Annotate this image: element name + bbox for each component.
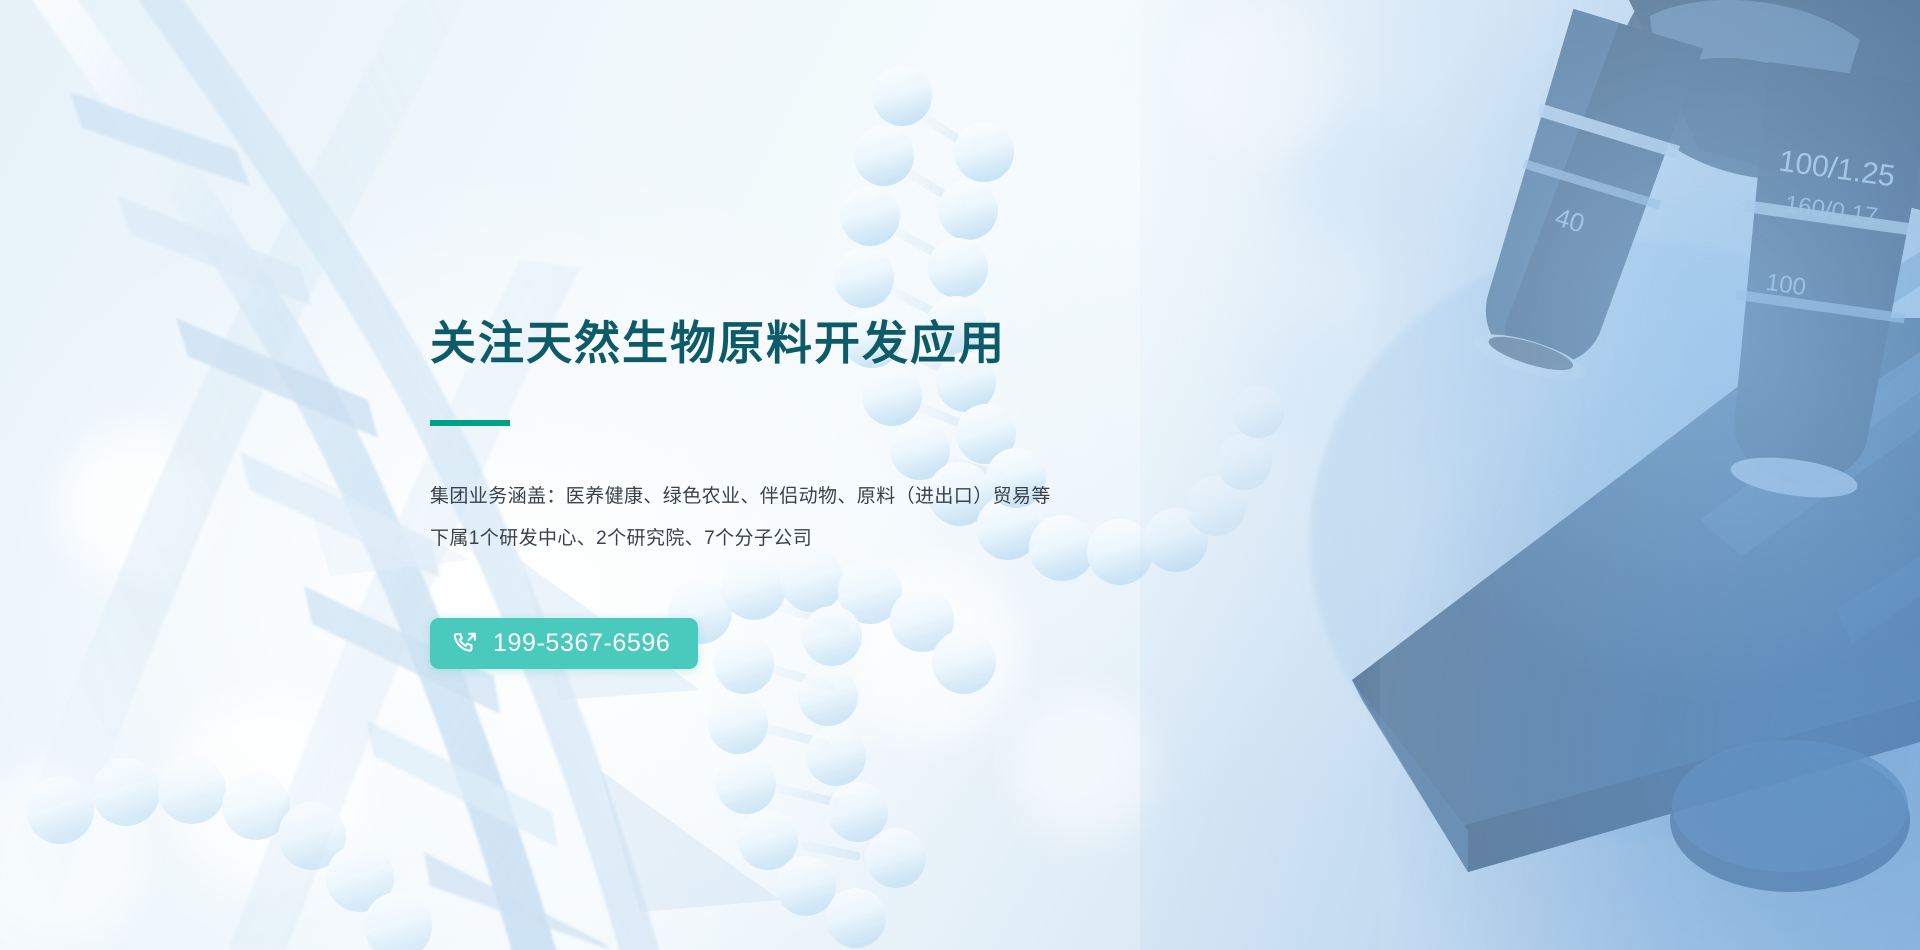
bokeh-circle [0,760,150,950]
subtitle-line-2: 下属1个研发中心、2个研究院、7个分子公司 [430,518,1190,560]
microscope-turret [1610,0,1920,210]
right-blue-wash [1140,0,1920,950]
bokeh-circle [170,690,370,890]
microscope-illustration: 40 100/1.25 160/0.17 100 [1310,0,1920,892]
svg-text:100/1.25: 100/1.25 [1777,145,1897,194]
hero-banner: 40 100/1.25 160/0.17 100 [0,0,1920,950]
page-title: 关注天然生物原料开发应用 [430,316,1190,370]
bokeh-circle [1180,0,1340,160]
phone-cta-button[interactable]: 199-5367-6596 [430,618,698,669]
bokeh-circle [1290,110,1430,250]
svg-text:100: 100 [1764,269,1807,301]
title-divider [430,420,510,426]
microscope-knob [1670,740,1910,892]
hero-subtitle: 集团业务涵盖：医养健康、绿色农业、伴侣动物、原料（进出口）贸易等 下属1个研发中… [430,476,1190,560]
bokeh-circle [60,430,210,580]
hero-content: 关注天然生物原料开发应用 集团业务涵盖：医养健康、绿色农业、伴侣动物、原料（进出… [430,316,1190,669]
microscope-stage [1352,252,1920,872]
subtitle-line-1: 集团业务涵盖：医养健康、绿色农业、伴侣动物、原料（进出口）贸易等 [430,476,1190,518]
svg-text:160/0.17: 160/0.17 [1783,191,1879,231]
outgoing-call-icon [452,630,479,657]
bokeh-circle [1010,690,1160,840]
phone-number-label: 199-5367-6596 [493,631,670,656]
svg-text:40: 40 [1552,202,1588,239]
microscope-objective-lens-marked: 100/1.25 160/0.17 100 [1705,61,1920,507]
microscope-objective-lens: 40 [1464,8,1709,397]
bokeh-circle [1250,330,1370,450]
cta-row: 199-5367-6596 [430,618,1190,669]
